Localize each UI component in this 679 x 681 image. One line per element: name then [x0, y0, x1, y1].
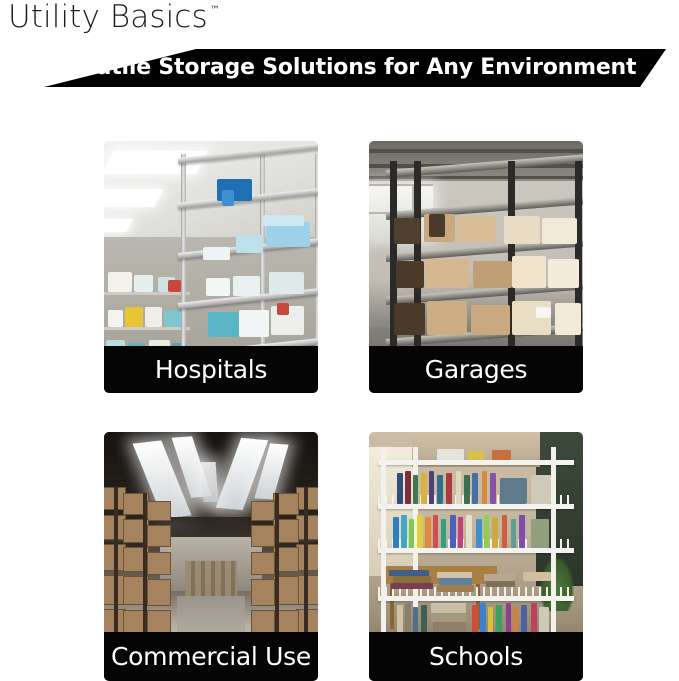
category-tile-garages[interactable]: Garages [369, 141, 583, 393]
category-tile-grid: Hospitals [104, 141, 586, 681]
category-tile-commercial-use[interactable]: Commercial Use [104, 432, 318, 681]
category-tile-hospitals[interactable]: Hospitals [104, 141, 318, 393]
brand-logo: Utility Basics ™ [8, 2, 220, 33]
tile-label-garages: Garages [369, 346, 583, 393]
tile-label-hospitals: Hospitals [104, 346, 318, 393]
headline-banner: Versatile Storage Solutions for Any Envi… [0, 49, 679, 87]
brand-name: Utility Basics [8, 2, 208, 33]
banner-headline: Versatile Storage Solutions for Any Envi… [0, 49, 679, 87]
category-tile-schools[interactable]: Schools [369, 432, 583, 681]
trademark-symbol: ™ [210, 6, 220, 16]
tile-label-commercial-use: Commercial Use [104, 632, 318, 681]
tile-label-schools: Schools [369, 632, 583, 681]
